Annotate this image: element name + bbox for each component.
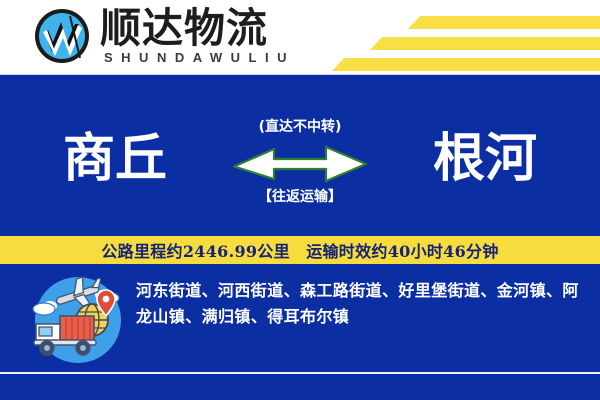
distance-duration-text: 公路里程约2446.99公里 运输时效约40小时46分钟	[101, 238, 498, 262]
header: 顺达物流 SHUNDAWULIU	[0, 0, 600, 74]
brand-name-en: SHUNDAWULIU	[104, 50, 295, 65]
brand-name-cn: 顺达物流	[100, 6, 268, 50]
bottom-divider	[0, 372, 600, 374]
destination-city: 根河	[370, 128, 600, 190]
info-band: 公路里程约2446.99公里 运输时效约40小时46分钟	[0, 234, 600, 266]
stripe-3	[332, 58, 600, 71]
origin-city: 商丘	[0, 128, 230, 190]
direct-service-note: (直达不中转)	[230, 116, 370, 136]
decorative-stripes	[330, 8, 600, 68]
stripe-2	[370, 37, 600, 50]
route-middle: (直达不中转) 【往返运输】	[230, 108, 370, 228]
logistics-route-banner: 顺达物流 SHUNDAWULIU 商丘 (直达不中转) 【往返运输】 根河 公路…	[0, 0, 600, 400]
circular-wave-logo-icon	[32, 6, 92, 66]
logistics-truck-globe-plane-icon	[22, 276, 134, 364]
bidirectional-arrow-icon	[230, 140, 370, 184]
route-row: 商丘 (直达不中转) 【往返运输】 根河	[0, 108, 600, 228]
stripe-1	[408, 16, 600, 29]
round-trip-note: 【往返运输】	[230, 186, 370, 206]
header-divider	[0, 74, 600, 78]
coverage-areas-text: 河东街道、河西街道、森工路街道、好里堡街道、金河镇、阿龙山镇、满归镇、得耳布尔镇	[136, 278, 586, 330]
